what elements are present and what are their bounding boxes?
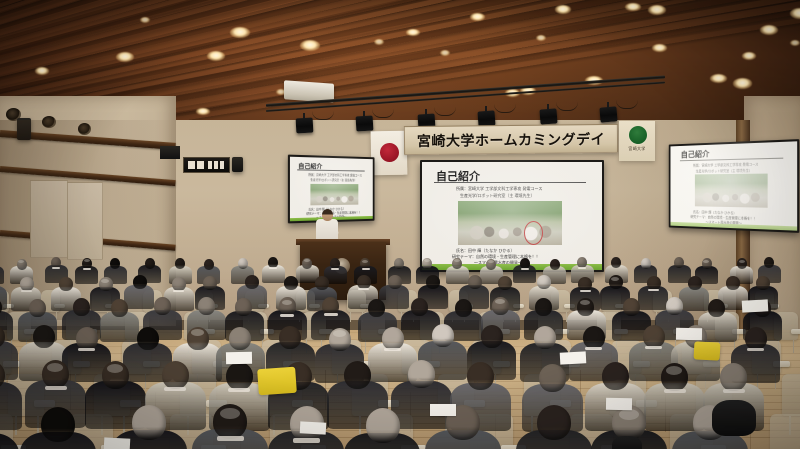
handout-paper [104, 437, 131, 449]
audience-head [641, 258, 651, 269]
audience-head [647, 276, 661, 290]
audience-collar [384, 348, 401, 351]
audience-head [137, 327, 159, 350]
audience-collar [83, 268, 91, 270]
audience-hair-highlight [703, 260, 709, 263]
audience-head [366, 408, 400, 443]
audience-head [411, 298, 428, 316]
audience-head [534, 326, 556, 349]
ceiling-downlight [536, 35, 546, 41]
stage-light [599, 106, 617, 122]
black-bag [612, 436, 642, 449]
chair-leg [793, 340, 794, 353]
handout-paper [300, 421, 327, 434]
flag-disc-icon [380, 143, 399, 162]
audience-head [203, 276, 217, 290]
audience-head [720, 363, 747, 391]
audience-head [76, 327, 98, 350]
audience-head [426, 275, 440, 289]
audience-collar [580, 290, 591, 292]
ceiling-downlight [35, 67, 49, 75]
audience-head [578, 277, 592, 291]
ceiling-downlight [742, 52, 756, 60]
audience-head [59, 277, 73, 291]
right-slide-title: 自己紹介 [681, 149, 710, 161]
audience-hair-highlight [619, 409, 639, 420]
audience-head [41, 407, 75, 442]
right-slide-line-2: 生産光学/ロボット研究室（主 環境先生） [696, 168, 752, 174]
right-projection-screen: 自己紹介 所属：宮崎大学 工学部文科工学専攻 発電コース 生産光学/ロボット研究… [669, 139, 800, 233]
audience-head [20, 277, 34, 291]
audience-head [162, 361, 189, 389]
chair-tablet-arm [791, 329, 800, 334]
audience-collar [723, 389, 745, 393]
audience-head [145, 258, 155, 269]
ceiling-downlight [406, 29, 420, 37]
yellow-tote-bag [257, 367, 297, 396]
audience-head [539, 364, 566, 392]
audience-collar [648, 289, 659, 291]
audience-head [537, 275, 551, 289]
audience-collar [331, 268, 339, 270]
audience-collar [269, 267, 277, 269]
audience-collar [747, 348, 764, 351]
ceiling-downlight [790, 8, 800, 19]
room-sign [183, 157, 230, 173]
audience-head [623, 298, 640, 316]
audience-collar [217, 436, 244, 441]
ceiling-downlight [652, 44, 667, 52]
event-banner-text: 宮崎大学ホームカミングデイ [417, 129, 605, 151]
audience-head [602, 362, 629, 390]
audience-head [764, 257, 774, 268]
audience-hair-highlight [282, 300, 292, 305]
audience-head [33, 325, 55, 348]
handout-paper [676, 328, 702, 340]
audience-torso [0, 382, 22, 430]
ceiling-downlight [374, 39, 384, 45]
audience-hair-highlight [304, 259, 310, 262]
audience-head [583, 326, 605, 349]
audience-collar [645, 346, 662, 349]
audience-head [368, 299, 385, 317]
audience-hair-highlight [362, 260, 368, 263]
audience-hair-highlight [101, 279, 109, 283]
wall-monitor [160, 146, 180, 159]
audience-collar [585, 347, 602, 350]
audience-hair-highlight [454, 259, 460, 262]
handout-paper [560, 351, 587, 364]
chair-leg [350, 312, 351, 322]
ceiling-downlight [733, 78, 752, 89]
audience-head [550, 259, 560, 270]
handout-paper [226, 352, 252, 364]
ceiling-downlight [116, 52, 134, 62]
ceiling-downlight [230, 27, 250, 38]
audience-head [315, 276, 329, 290]
audience-head [467, 362, 494, 390]
audience-head [481, 325, 503, 348]
audience-collar [164, 387, 186, 391]
audience-head [29, 299, 46, 317]
audience-head [229, 327, 251, 350]
audience-head [432, 324, 454, 347]
japanese-flag [371, 131, 408, 176]
event-banner: 宮崎大学ホームカミングデイ [404, 124, 618, 155]
audience-head [175, 258, 185, 269]
audience-head [238, 258, 248, 269]
yellow-tote-bag [694, 341, 721, 360]
center-slide-photo [458, 201, 562, 245]
audience-head [498, 276, 512, 290]
audience-head [132, 405, 166, 440]
audience-hair-highlight [220, 408, 240, 419]
audience-hair-highlight [84, 259, 90, 262]
audience-collar [521, 268, 529, 270]
audience-collar [664, 389, 686, 393]
audience-hair-highlight [18, 260, 24, 263]
audience-hair-highlight [739, 260, 745, 263]
audience-collar [362, 268, 370, 270]
audience-hair-highlight [47, 363, 63, 372]
audience-collar [324, 313, 338, 316]
audience-head [235, 298, 252, 316]
center-slide-line-2: 生産光学/ロボット研究室（主 環境先生） [460, 193, 535, 199]
audience-head [666, 297, 683, 315]
audience-head [344, 361, 371, 389]
university-emblem-caption: 宮崎大学 [619, 146, 655, 152]
audience-collar [228, 388, 250, 392]
audience-head [708, 299, 725, 317]
center-slide-line-1: 所属：宮崎大学 工学部文科工学専攻 発電コース [456, 186, 542, 192]
audience-hair-highlight [424, 259, 430, 262]
audience-collar [293, 438, 320, 443]
audience-head [172, 277, 186, 291]
audience-head [745, 327, 767, 350]
black-backpack [712, 400, 756, 436]
university-emblem-disc-icon [628, 125, 648, 145]
audience-head [388, 275, 402, 289]
audience-torso [679, 287, 709, 311]
audience-collar [358, 288, 369, 290]
audience-head [245, 275, 259, 289]
audience-hair-highlight [488, 260, 494, 263]
audience-head [110, 258, 120, 269]
ceiling-downlight [196, 108, 210, 116]
right-slide-photo [695, 174, 768, 208]
audience-head [154, 297, 171, 315]
audience-head [394, 258, 404, 269]
audience-head [284, 276, 298, 290]
ceiling-downlight [470, 13, 485, 21]
handout-paper [606, 398, 632, 410]
presenter-head [322, 209, 333, 221]
chair [770, 414, 800, 449]
left-slide-line-1: 所属：宮崎大学 工学部文科工学専攻 発電コース [308, 173, 362, 178]
chair [782, 374, 800, 416]
audience-collar [52, 267, 60, 269]
ceiling-downlight [555, 5, 571, 14]
audience-head [611, 257, 621, 268]
audience-head [674, 257, 684, 268]
audience-head [535, 298, 552, 316]
audience-collar [578, 267, 586, 269]
university-emblem: 宮崎大学 [619, 121, 655, 161]
audience-head [133, 275, 147, 289]
ceiling-speaker [232, 157, 243, 172]
audience-head [468, 275, 482, 289]
audience-hair-highlight [191, 329, 204, 336]
stage-light [296, 118, 314, 134]
audience-collar [173, 290, 184, 292]
stage-light [356, 115, 374, 131]
ceiling-downlight [648, 5, 666, 15]
audience-area [0, 250, 800, 449]
audience-head [73, 298, 90, 316]
audience-hair-highlight [611, 277, 619, 281]
audience-hair-highlight [495, 299, 505, 304]
audience-head [408, 360, 435, 388]
audience-head [455, 299, 472, 317]
audience-torso [0, 266, 4, 284]
audience-head [111, 299, 128, 317]
ceiling-downlight [790, 40, 800, 46]
audience-hair-highlight [580, 300, 590, 305]
left-slide-line-2: 生産光学/ロボット研究室（主 環境先生） [310, 178, 356, 182]
left-slide-photo [310, 184, 358, 205]
audience-collar [78, 348, 95, 351]
audience-head [537, 405, 571, 440]
audience-head [279, 326, 301, 349]
ceiling-downlight [440, 50, 450, 56]
audience-head [357, 275, 371, 289]
audience-head [726, 276, 740, 290]
handout-paper [430, 404, 456, 416]
audience-head [688, 276, 702, 290]
audience-head [198, 297, 215, 315]
audience-collar [21, 290, 32, 292]
audience-hair-highlight [333, 330, 346, 337]
ceiling-downlight [710, 74, 727, 83]
audience-head [226, 362, 253, 390]
audience-hair-highlight [666, 366, 682, 375]
audience-hair-highlight [107, 364, 123, 373]
audience-collar [45, 386, 67, 390]
audience-head [204, 259, 214, 270]
lecture-hall-photo: 宮崎大学ホームカミングデイ 宮崎大学 自己紹介 所属：宮崎大学 工学部文科工学専… [0, 0, 800, 449]
handout-paper [742, 299, 769, 312]
right-slide: 自己紹介 所属：宮崎大学 工学部文科工学専攻 発電コース 生産光学/ロボット研究… [670, 141, 797, 230]
ceiling-downlight [140, 17, 150, 23]
audience-collar [280, 314, 294, 317]
audience-head [756, 276, 770, 290]
stage-light [539, 109, 557, 125]
audience-head [643, 325, 665, 348]
audience-head [382, 327, 404, 350]
